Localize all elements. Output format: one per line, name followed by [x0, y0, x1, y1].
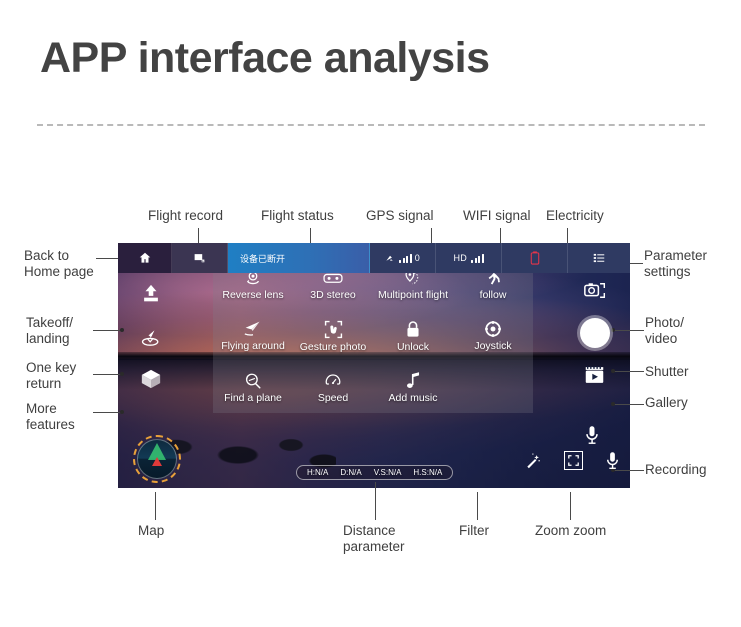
- menu-item-add-music[interactable]: Add music: [373, 362, 453, 413]
- flight-record-button[interactable]: [172, 243, 228, 273]
- menu-item-speed[interactable]: Speed: [293, 362, 373, 413]
- compass-heading-marker: [152, 457, 162, 466]
- music-note-icon: [406, 371, 421, 390]
- menu-item-gesture-photo[interactable]: Gesture photo: [293, 310, 373, 361]
- leader-takeoff-landing: [93, 330, 123, 331]
- gesture-frame-icon: [324, 320, 343, 339]
- feature-menu-panel: Reverse lens 3D stereo Multipoint flight: [213, 255, 533, 413]
- leader-photo-video: [614, 330, 644, 331]
- menu-item-label: Flying around: [221, 341, 285, 352]
- back-to-home-button[interactable]: [118, 243, 172, 273]
- leader-recording: [614, 470, 644, 471]
- annotation-map: Map: [138, 523, 164, 539]
- menu-item-label: Gesture photo: [300, 342, 367, 353]
- page-title: APP interface analysis: [40, 34, 490, 83]
- annotation-shutter: Shutter: [645, 364, 689, 380]
- leader-dot: [120, 372, 124, 376]
- annotation-zoom-zoom: Zoom zoom: [535, 523, 606, 539]
- zoom-frame-icon: [568, 455, 579, 466]
- takeoff-landing-icon: [140, 283, 162, 305]
- flight-status-bar: 设备已断开: [228, 243, 370, 273]
- leader-shutter: [614, 371, 644, 372]
- speedometer-icon: [324, 372, 342, 390]
- menu-item-label: Find a plane: [224, 393, 282, 404]
- leader-dot: [611, 369, 615, 373]
- gps-satellite-icon: [385, 253, 396, 264]
- menu-item-joystick[interactable]: Joystick: [453, 310, 533, 361]
- gallery-button[interactable]: [584, 365, 605, 385]
- compass-radar-icon: [137, 439, 177, 479]
- leader-dot: [120, 328, 124, 332]
- gallery-icon: [584, 365, 605, 385]
- flight-record-icon: [193, 252, 206, 265]
- leader-one-key-return: [93, 374, 123, 375]
- annotation-one-key-return: One key return: [26, 360, 76, 392]
- annotation-more-features: More features: [26, 401, 75, 433]
- title-divider: [37, 124, 705, 126]
- annotation-wifi-signal: WIFI signal: [463, 208, 531, 224]
- more-features-cube-icon: [140, 368, 162, 390]
- annotation-gallery: Gallery: [645, 395, 688, 411]
- annotation-parameter-settings: Parameter settings: [644, 248, 707, 280]
- filter-wand-icon[interactable]: [525, 452, 542, 469]
- annotation-flight-status: Flight status: [261, 208, 334, 224]
- shutter-icon: [580, 318, 610, 348]
- menu-item-label: Reverse lens: [222, 290, 283, 301]
- battery-indicator: [502, 243, 568, 273]
- search-drone-icon: [244, 372, 262, 390]
- flight-status-text: 设备已断开: [240, 252, 285, 265]
- menu-item-label: 3D stereo: [310, 290, 356, 301]
- annotation-takeoff-landing: Takeoff/ landing: [26, 315, 73, 347]
- list-settings-icon: [592, 251, 606, 265]
- distance-horizontal-speed: H.S:N/A: [413, 468, 442, 477]
- menu-item-label: Add music: [388, 393, 437, 404]
- gps-bars-icon: [399, 254, 412, 263]
- joystick-icon: [484, 320, 502, 338]
- leader-filter: [477, 492, 478, 520]
- home-icon: [138, 251, 152, 265]
- map-compass[interactable]: [133, 435, 181, 483]
- annotation-gps-signal: GPS signal: [366, 208, 434, 224]
- leader-zoom-zoom: [570, 492, 571, 520]
- gps-count: 0: [415, 253, 420, 263]
- photo-video-toggle-icon: [584, 281, 606, 300]
- menu-item-label: Joystick: [474, 341, 511, 352]
- distance-distance: D:N/A: [340, 468, 361, 477]
- one-key-return-icon: [140, 328, 162, 348]
- lock-icon: [405, 320, 421, 339]
- battery-icon: [529, 251, 541, 265]
- bottom-tool-row: [525, 451, 620, 470]
- wifi-signal-indicator: HD: [436, 243, 502, 273]
- takeoff-landing-button[interactable]: [140, 283, 162, 305]
- annotation-back-to-home: Back to Home page: [24, 248, 94, 280]
- wifi-hd-label: HD: [453, 253, 467, 263]
- distance-height: H:N/A: [307, 468, 328, 477]
- menu-item-label: Multipoint flight: [378, 290, 448, 301]
- leader-map: [155, 492, 156, 520]
- leader-dot: [611, 328, 615, 332]
- menu-item-label: Unlock: [397, 342, 429, 353]
- distance-parameter-bar: H:N/A D:N/A V.S:N/A H.S:N/A: [296, 465, 453, 480]
- photo-video-toggle-button[interactable]: [584, 281, 606, 300]
- menu-item-unlock[interactable]: Unlock: [373, 310, 453, 361]
- annotation-distance-parameter: Distance parameter: [343, 523, 405, 555]
- menu-item-flying-around[interactable]: Flying around: [213, 310, 293, 361]
- app-screen: 设备已断开 0 HD: [118, 243, 630, 488]
- annotation-electricity: Electricity: [546, 208, 604, 224]
- annotation-recording: Recording: [645, 462, 707, 478]
- more-features-button[interactable]: [140, 368, 162, 390]
- app-toolbar: 设备已断开 0 HD: [118, 243, 630, 273]
- shutter-button[interactable]: [580, 318, 610, 348]
- leader-dot: [120, 410, 124, 414]
- microphone-icon[interactable]: [605, 451, 620, 470]
- parameter-settings-button[interactable]: [568, 243, 630, 273]
- annotation-filter: Filter: [459, 523, 489, 539]
- recording-mic-button[interactable]: [584, 425, 600, 445]
- one-key-return-button[interactable]: [140, 328, 162, 348]
- annotation-photo-video: Photo/ video: [645, 315, 684, 347]
- paper-plane-icon: [243, 320, 263, 338]
- microphone-icon: [584, 425, 600, 445]
- leader-dot: [611, 402, 615, 406]
- leader-distance-parameter: [375, 482, 376, 520]
- leader-more-features: [93, 412, 123, 413]
- distance-vertical-speed: V.S:N/A: [374, 468, 402, 477]
- menu-item-find-a-plane[interactable]: Find a plane: [213, 362, 293, 413]
- zoom-frame-button[interactable]: [564, 451, 583, 470]
- leader-gallery: [614, 404, 644, 405]
- annotation-flight-record: Flight record: [148, 208, 223, 224]
- gps-signal-indicator: 0: [370, 243, 436, 273]
- signal-bars-icon: [471, 254, 484, 263]
- menu-item-label: follow: [480, 290, 507, 301]
- menu-item-label: Speed: [318, 393, 348, 404]
